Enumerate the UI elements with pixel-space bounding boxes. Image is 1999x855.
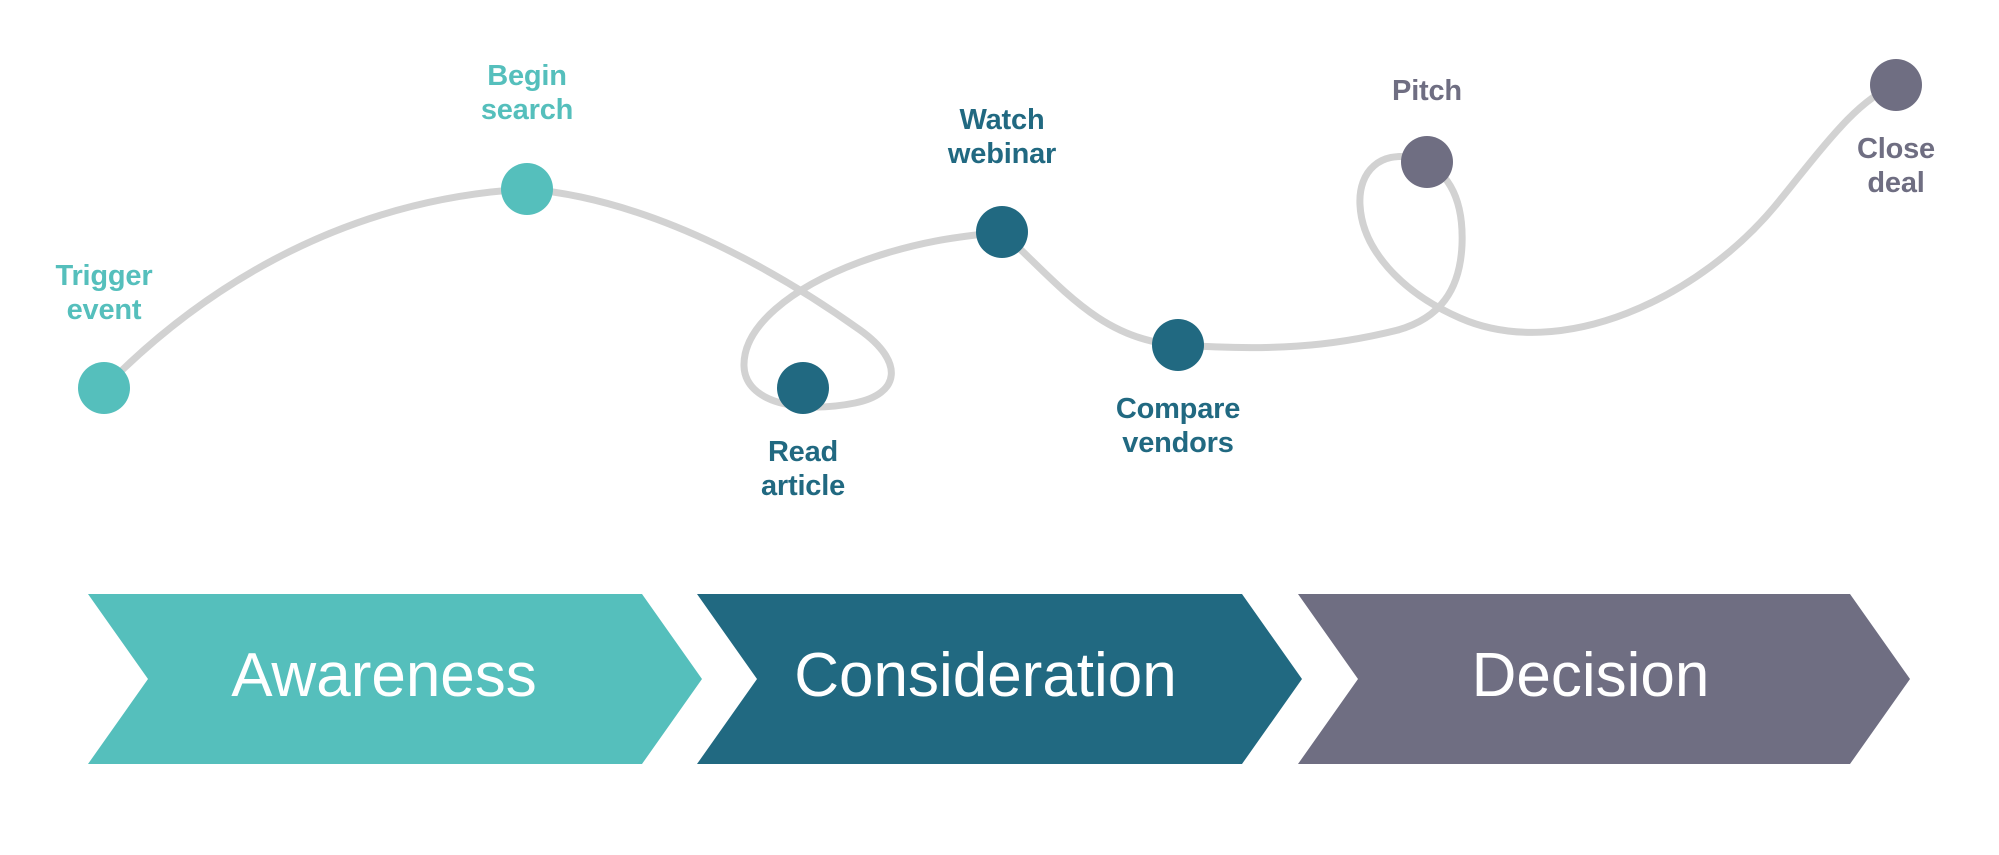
touchpoint-dot-close-deal[interactable] (1870, 59, 1922, 111)
touchpoint-dot-watch-webinar[interactable] (976, 206, 1028, 258)
journey-path-segment-read-loop (527, 189, 1002, 407)
journey-path-segment-compare (1002, 232, 1398, 348)
touchpoint-dots (78, 59, 1922, 414)
stage-banner-decision[interactable] (1298, 594, 1910, 764)
stage-banner-consideration[interactable] (697, 594, 1302, 764)
touchpoint-dot-read-article[interactable] (777, 362, 829, 414)
journey-canvas (0, 0, 1999, 855)
touchpoint-dot-trigger-event[interactable] (78, 362, 130, 414)
touchpoint-dot-pitch[interactable] (1401, 136, 1453, 188)
touchpoint-dot-begin-search[interactable] (501, 163, 553, 215)
stage-banner-awareness[interactable] (88, 594, 702, 764)
journey-path-segment-pitch-loop (1360, 85, 1896, 332)
journey-path-segment-awareness (104, 189, 527, 388)
touchpoint-dot-compare-vendors[interactable] (1152, 319, 1204, 371)
journey-diagram: Trigger event Begin search Read article … (0, 0, 1999, 855)
stage-banner-group (88, 594, 1910, 764)
